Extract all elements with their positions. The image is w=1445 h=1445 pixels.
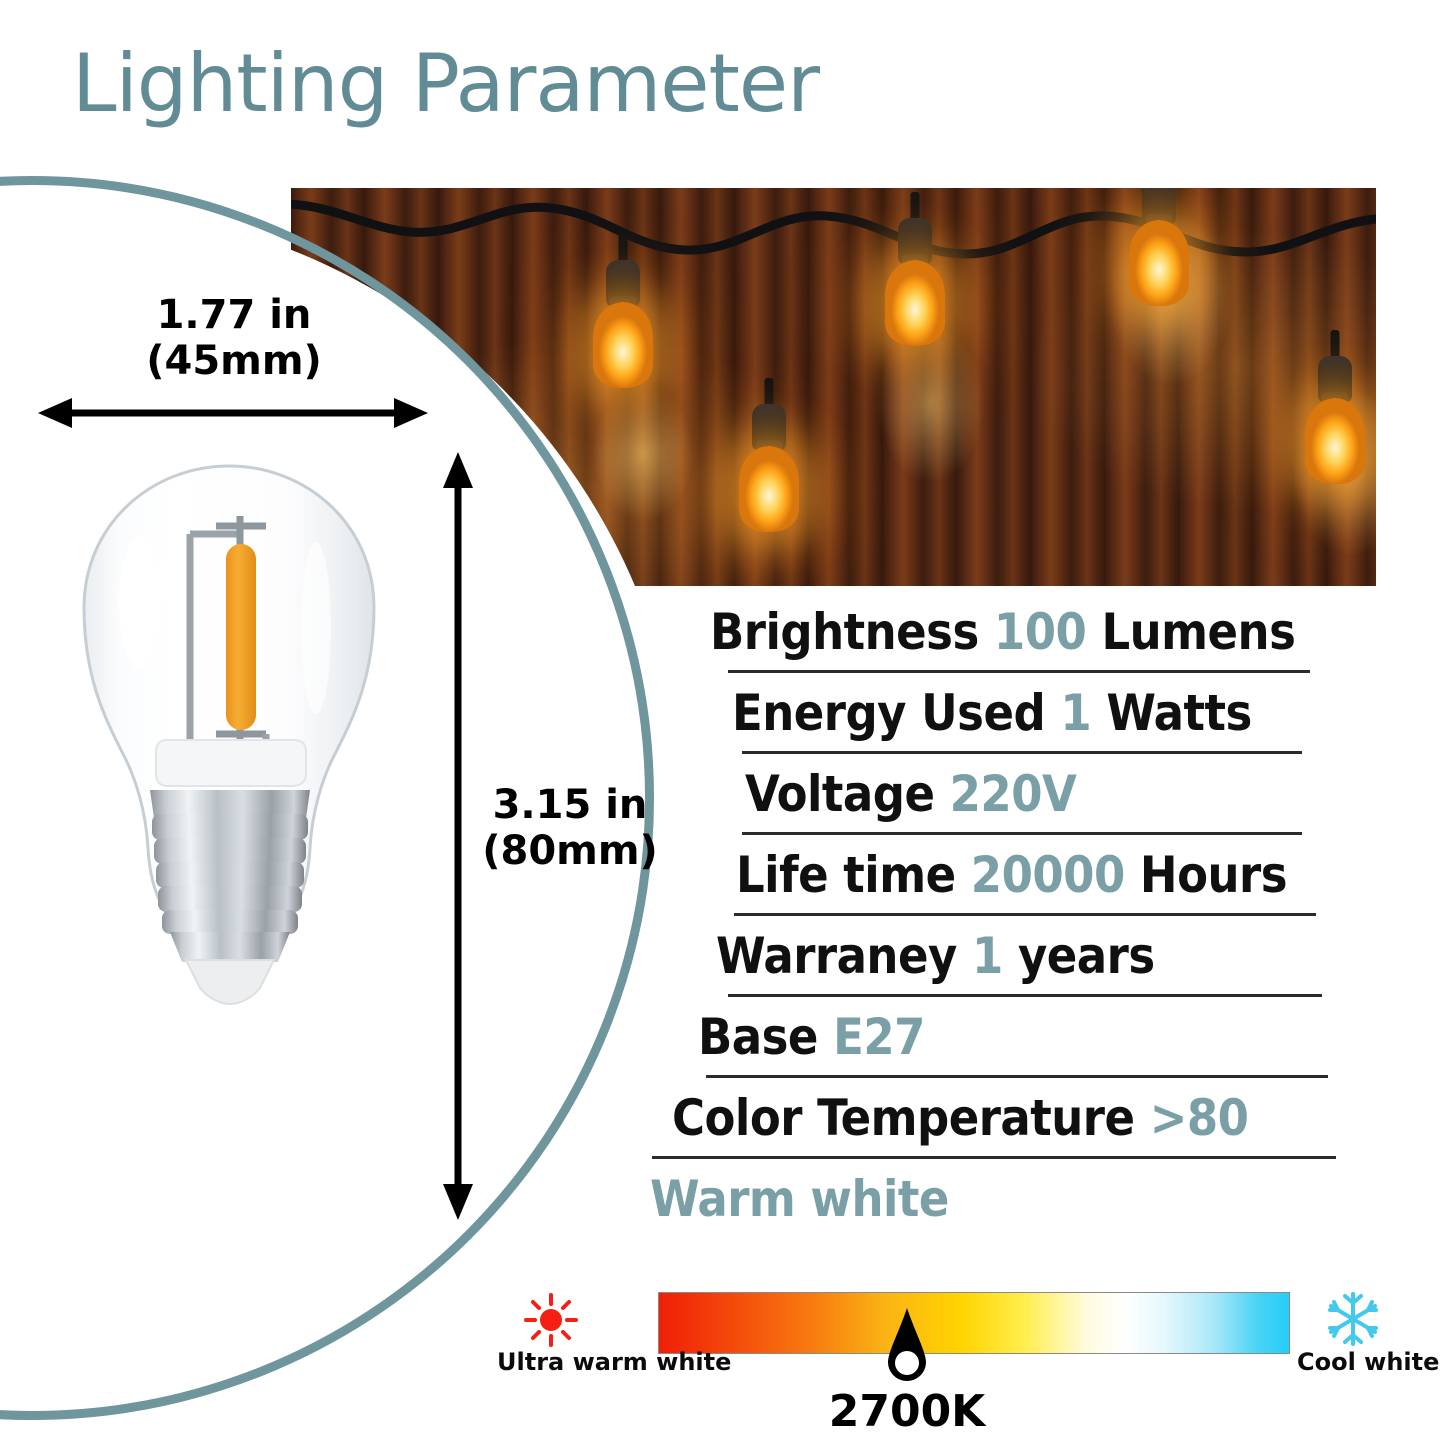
spec-label-before: Brightness: [710, 603, 979, 661]
snowflake-icon: [1322, 1290, 1384, 1348]
spec-value: >80: [1150, 1089, 1249, 1147]
width-arrow: [38, 392, 428, 434]
spec-row: Energy Used 1 Watts: [0, 677, 1380, 749]
marker-value: 2700K: [802, 1386, 1012, 1437]
spec-value: 1: [1060, 684, 1091, 742]
spec-line: Life time 20000 Hours: [736, 839, 1380, 911]
spec-value: 20000: [971, 846, 1125, 904]
warm-white-label: Warm white: [650, 1163, 1380, 1235]
color-temperature-marker: [884, 1308, 930, 1382]
spec-row: Warraney 1 years: [0, 920, 1380, 992]
spec-divider: [742, 832, 1302, 835]
snowflake-icon-svg: [1322, 1290, 1384, 1348]
spec-line: Base E27: [698, 1001, 1380, 1073]
spec-line: Color Temperature >80: [672, 1082, 1380, 1154]
spec-label-before: Life time: [736, 846, 956, 904]
width-mm: (45mm): [44, 338, 424, 384]
bulb-glass: [739, 446, 799, 532]
spec-line: Warraney 1 years: [716, 920, 1380, 992]
spec-line: Brightness 100 Lumens: [710, 596, 1380, 668]
spec-label-before: Voltage: [745, 765, 934, 823]
warm-white-row: Warm white: [0, 1163, 1380, 1235]
spec-label-before: Warraney: [716, 927, 957, 985]
marker-pin-svg: [884, 1308, 930, 1382]
spec-line: Voltage 220V: [745, 758, 1380, 830]
spec-row: Voltage 220V: [0, 758, 1380, 830]
page-title: Lighting Parameter: [72, 44, 819, 124]
spec-divider: [734, 913, 1316, 916]
specification-list: Brightness 100 Lumens Energy Used 1 Watt…: [0, 596, 1380, 1235]
spec-row: Brightness 100 Lumens: [0, 596, 1380, 668]
bulb-glass: [1305, 398, 1365, 484]
cool-white-label: Cool white: [1297, 1348, 1439, 1376]
bulb-glass: [1129, 220, 1189, 306]
spec-label-before: Base: [698, 1008, 818, 1066]
spec-row: Color Temperature >80: [0, 1082, 1380, 1154]
spec-line: Energy Used 1 Watts: [732, 677, 1380, 749]
spec-divider: [706, 1075, 1328, 1078]
bulb-glass: [593, 302, 653, 388]
spec-divider: [742, 751, 1302, 754]
color-temperature-scale: Ultra warm white Cool white 2700K: [0, 1286, 1445, 1445]
width-dimension-label: 1.77 in (45mm): [44, 292, 424, 384]
spec-row: Base E27: [0, 1001, 1380, 1073]
bulb-glass: [885, 260, 945, 346]
spec-divider: [728, 994, 1322, 997]
sun-icon: [521, 1292, 581, 1348]
ultra-warm-white-label: Ultra warm white: [497, 1348, 731, 1376]
spec-label-after: years: [1018, 927, 1155, 985]
color-temperature-gradient-bar: [658, 1292, 1290, 1354]
string-light-cable: [291, 192, 1376, 312]
spec-label-after: Lumens: [1101, 603, 1295, 661]
spec-divider: [728, 670, 1310, 673]
spec-value: 100: [994, 603, 1086, 661]
width-inches: 1.77 in: [44, 292, 424, 338]
spec-label-before: Energy Used: [732, 684, 1045, 742]
spec-label-after: Watts: [1106, 684, 1252, 742]
spec-label-after: Hours: [1140, 846, 1287, 904]
spec-value: E27: [833, 1008, 925, 1066]
width-arrow-svg: [38, 392, 428, 434]
infographic-root: Lighting Parameter 1.77 in (45mm) 3.15 i…: [0, 0, 1445, 1445]
sun-icon-svg: [521, 1292, 581, 1348]
spec-row: Life time 20000 Hours: [0, 839, 1380, 911]
spec-divider: [652, 1156, 1336, 1159]
cable-svg: [291, 192, 1376, 312]
spec-label-before: Color Temperature: [672, 1089, 1135, 1147]
spec-value: 220V: [950, 765, 1077, 823]
spec-value: 1: [972, 927, 1003, 985]
